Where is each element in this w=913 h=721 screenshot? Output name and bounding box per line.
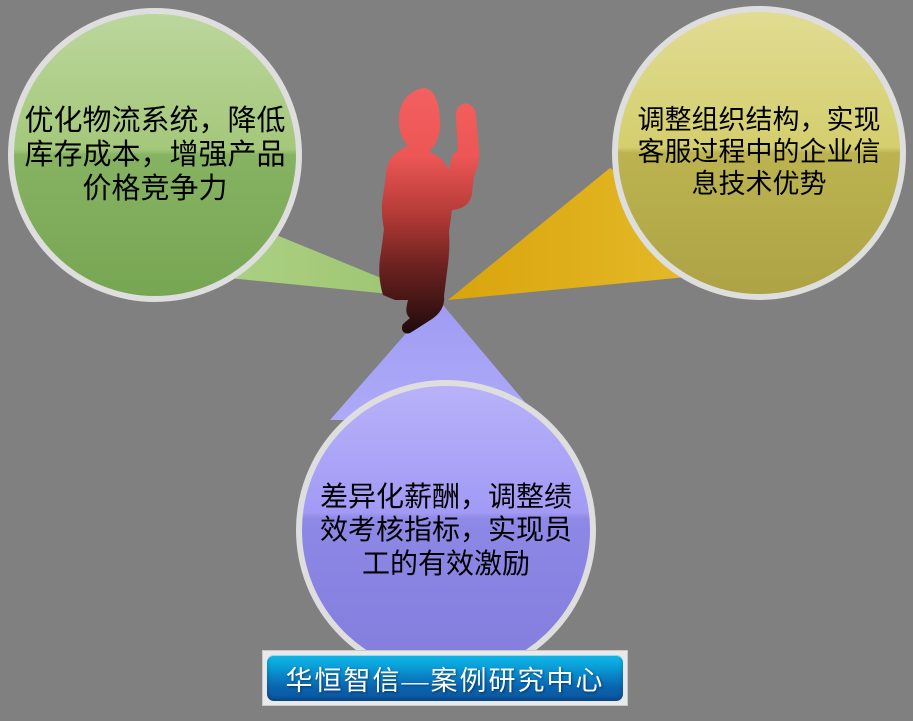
node-bubble-yellow[interactable]: 调整组织结构，实现客服过程中的企业信息技术优势 xyxy=(612,6,906,300)
node-purple-text: 差异化薪酬，调整绩效考核指标，实现员工的有效激励 xyxy=(302,480,590,579)
node-yellow-text: 调整组织结构，实现客服过程中的企业信息技术优势 xyxy=(618,105,900,201)
diagram-canvas: 优化物流系统，降低库存成本，增强产品价格竞争力 调整组织结构，实现客服过程中的企… xyxy=(0,0,913,721)
node-bubble-purple[interactable]: 差异化薪酬，调整绩效考核指标，实现员工的有效激励 xyxy=(296,380,596,680)
footer-banner-plate: 华恒智信—案例研究中心 xyxy=(267,655,623,701)
node-green-text: 优化物流系统，降低库存成本，增强产品价格竞争力 xyxy=(14,104,296,207)
node-bubble-green[interactable]: 优化物流系统，降低库存成本，增强产品价格竞争力 xyxy=(8,8,302,302)
footer-banner: 华恒智信—案例研究中心 xyxy=(262,650,628,706)
footer-banner-text: 华恒智信—案例研究中心 xyxy=(286,659,605,698)
